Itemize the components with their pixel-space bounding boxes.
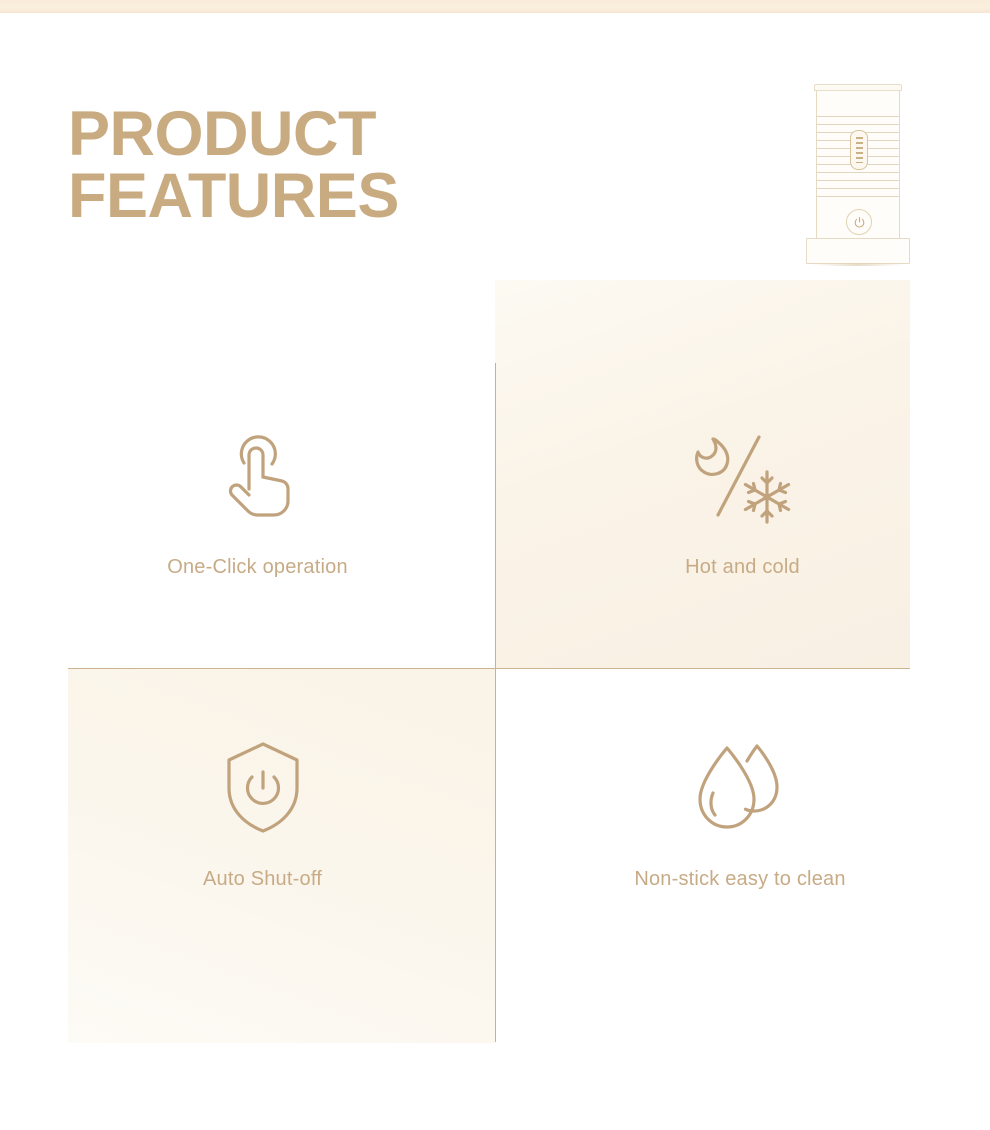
- product-image: [806, 84, 914, 264]
- feature-item-auto-shutoff: Auto Shut-off: [140, 732, 385, 891]
- feature-label: Auto Shut-off: [203, 868, 322, 891]
- feature-label: One-Click operation: [167, 556, 348, 579]
- grid-divider-horizontal: [68, 668, 910, 669]
- shield-power-icon: [219, 732, 307, 842]
- top-accent-band: [0, 0, 990, 13]
- page-title: PRODUCT FEATURES: [68, 104, 588, 227]
- water-droplets-icon: [691, 732, 789, 842]
- product-lid: [814, 84, 902, 91]
- feature-label: Non-stick easy to clean: [634, 868, 845, 891]
- product-features-page: PRODUCT FEATURES One-Click o: [0, 0, 990, 1130]
- product-logo-mark: [856, 137, 863, 163]
- product-logo-badge: [850, 130, 868, 170]
- tap-hand-icon: [215, 420, 301, 530]
- product-power-button: [846, 209, 872, 235]
- feature-item-hot-cold: Hot and cold: [620, 420, 865, 579]
- feature-item-one-click: One-Click operation: [135, 420, 380, 579]
- feature-item-non-stick: Non-stick easy to clean: [615, 732, 865, 891]
- feature-label: Hot and cold: [685, 556, 800, 579]
- product-shadow: [810, 263, 906, 266]
- flame-snowflake-icon: [688, 420, 798, 530]
- product-base: [806, 238, 910, 264]
- grid-divider-vertical: [495, 363, 496, 1042]
